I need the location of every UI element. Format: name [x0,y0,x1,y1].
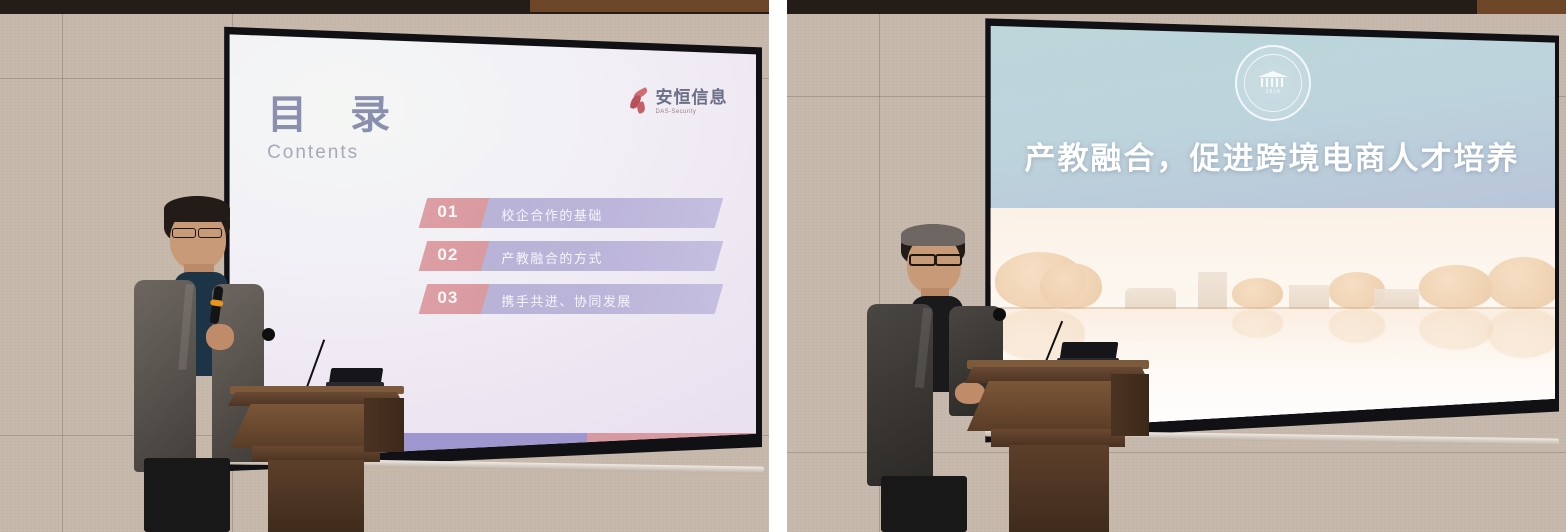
das-logo-name-en: DAS-Security [656,109,728,115]
panorama-skyline [989,249,1555,309]
slide-title-text: 产教融合，促进跨境电商人才培养 [989,133,1555,178]
toc-number: 01 [437,202,458,222]
mic-capsule [993,308,1006,321]
glasses-left-lens-icon [909,254,936,266]
tree [1040,263,1102,310]
podium-side-panel [364,398,404,452]
university-emblem-icon: 1914 [1235,45,1311,121]
hair-top-grey [901,224,965,246]
ceiling-trim-right [1477,0,1566,14]
das-logo-text: 安恒信息 DAS-Security [656,89,728,115]
slide-heading-cn: 目 录 [267,95,406,135]
event-photo-right: 1914 产教融合，促进跨境电商人才培养 [787,0,1566,532]
emblem-building-icon [1258,71,1288,87]
hair-top [164,196,230,222]
tree [1232,278,1283,309]
emblem-year: 1914 [1266,89,1281,95]
toc-item: 01 校企合作的基础 [423,198,719,228]
tree-reflection [1329,309,1386,342]
mic-capsule [262,328,275,341]
das-logo-name-cn: 安恒信息 [656,89,728,106]
podium-column [268,460,364,532]
tree-reflection [1419,309,1493,350]
toc-item: 02 产教融合的方式 [423,241,719,271]
toc-label: 携手共进、协同发展 [501,291,632,310]
slide-heading-en: Contents [267,142,406,164]
ceiling-right [787,0,1566,14]
toc-label: 校企合作的基础 [501,205,603,224]
toc-label: 产教融合的方式 [501,248,603,267]
slide-heading-block: 目 录 Contents [267,95,406,164]
ceiling-trim-left [530,0,769,12]
building [1289,285,1329,309]
podium-left [204,386,404,532]
glasses-right-lens-icon [935,254,962,266]
toc-item: 03 携手共进、协同发展 [423,284,719,314]
das-logo-mark-icon [629,89,651,115]
tree [1487,257,1555,310]
podium-column [1009,445,1109,532]
glasses-left-lens-icon [172,228,196,238]
photo-pair-sheet: 目 录 Contents 安恒信息 DAS-Security 01 [0,0,1566,532]
event-photo-left: 目 录 Contents 安恒信息 DAS-Security 01 [0,0,769,532]
tree [1419,265,1493,309]
wall-seam [62,0,63,532]
hand [206,324,234,350]
emblem-inner-ring: 1914 [1244,54,1302,112]
glasses-right-lens-icon [198,228,222,238]
podium-right [939,360,1149,532]
toc-number: 03 [437,288,458,308]
toc-number: 02 [437,245,458,265]
das-security-logo: 安恒信息 DAS-Security [629,89,728,115]
podium-side-panel [1111,374,1149,436]
building [1198,272,1226,309]
tree-reflection [1232,309,1283,337]
toc-list: 01 校企合作的基础 02 产教融合的方式 03 携手共进、协同发展 [423,198,719,327]
tree-reflection [1487,309,1555,358]
